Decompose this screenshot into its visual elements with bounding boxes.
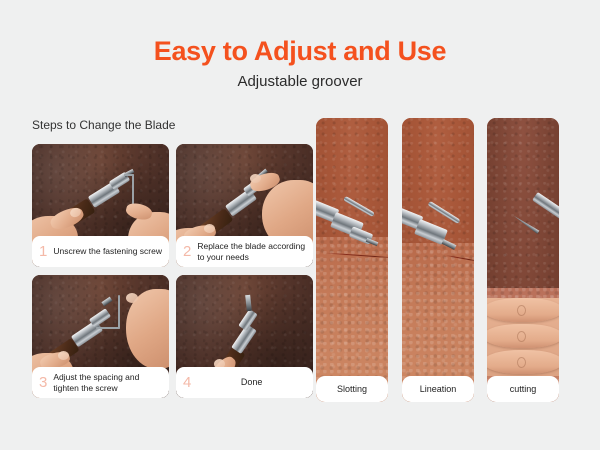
step-caption-2: 2 Replace the blade according to your ne… bbox=[176, 236, 313, 267]
knuckle-1 bbox=[517, 305, 526, 316]
allen-key-shaft bbox=[118, 295, 120, 329]
steps-section-heading: Steps to Change the Blade bbox=[32, 118, 175, 132]
usage-panels: Slotting Lineation cutting bbox=[316, 118, 568, 402]
step-caption-3: 3 Adjust the spacing and tighten the scr… bbox=[32, 367, 169, 398]
usage-panel-cutting[interactable]: cutting bbox=[487, 118, 559, 402]
step-text-1: Unscrew the fastening screw bbox=[53, 246, 162, 257]
step-caption-1: 1 Unscrew the fastening screw bbox=[32, 236, 169, 267]
fingernail-left bbox=[58, 351, 69, 360]
knuckle-2 bbox=[517, 331, 526, 342]
step-number-1: 1 bbox=[39, 244, 47, 259]
hand-fingers bbox=[487, 298, 559, 376]
usage-panel-slotting[interactable]: Slotting bbox=[316, 118, 388, 402]
usage-panel-lineation[interactable]: Lineation bbox=[402, 118, 474, 402]
step-card-3[interactable]: 3 Adjust the spacing and tighten the scr… bbox=[32, 275, 169, 398]
step-number-4: 4 bbox=[183, 375, 191, 390]
fingernail-right bbox=[250, 174, 261, 183]
step-text-2: Replace the blade according to your need… bbox=[197, 241, 306, 263]
step-number-2: 2 bbox=[183, 244, 191, 259]
step-card-4[interactable]: 4 Done bbox=[176, 275, 313, 398]
fingernail-right bbox=[126, 293, 138, 303]
steps-grid: 1 Unscrew the fastening screw 2 Replace … bbox=[32, 144, 313, 402]
fingernail-left bbox=[204, 224, 215, 233]
page-subtitle: Adjustable groover bbox=[0, 73, 600, 90]
step-number-3: 3 bbox=[39, 375, 47, 390]
page-title: Easy to Adjust and Use bbox=[0, 36, 600, 67]
allen-key-head bbox=[124, 174, 134, 176]
knuckle-3 bbox=[517, 357, 526, 368]
panel-label-slotting: Slotting bbox=[316, 376, 388, 402]
step-text-3: Adjust the spacing and tighten the screw bbox=[53, 372, 162, 394]
step-caption-4: 4 Done bbox=[176, 367, 313, 398]
panel-label-lineation: Lineation bbox=[402, 376, 474, 402]
step-card-1[interactable]: 1 Unscrew the fastening screw bbox=[32, 144, 169, 267]
step-text-4: Done bbox=[197, 377, 306, 389]
allen-key-arm bbox=[96, 327, 120, 329]
panel-label-cutting: cutting bbox=[487, 376, 559, 402]
step-card-2[interactable]: 2 Replace the blade according to your ne… bbox=[176, 144, 313, 267]
